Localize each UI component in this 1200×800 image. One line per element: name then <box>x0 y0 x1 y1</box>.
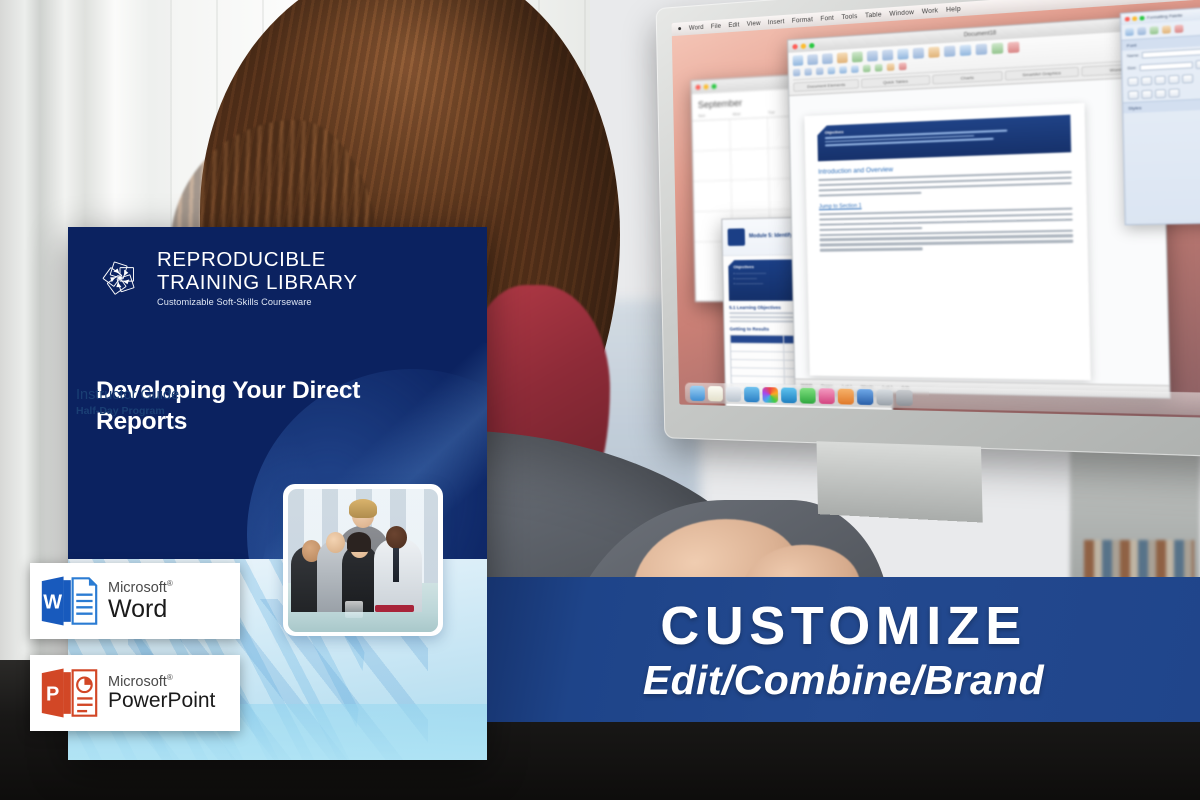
apple-icon[interactable]: ● <box>678 25 683 32</box>
logo-line-2: TRAINING LIBRARY <box>157 272 358 295</box>
zoom-icon[interactable] <box>992 43 1004 55</box>
subscript-button[interactable] <box>1141 90 1152 100</box>
toolbox-icon[interactable] <box>976 44 988 56</box>
maximize-icon[interactable] <box>711 84 716 89</box>
palette-media-icon[interactable] <box>1162 25 1171 33</box>
bullets-icon[interactable] <box>863 65 871 73</box>
palette-list-icon[interactable] <box>1137 27 1146 35</box>
menu-item-format[interactable]: Format <box>792 16 813 24</box>
microsoft-powerpoint-badge[interactable]: P Microsoft® PowerPoint <box>30 655 240 731</box>
thumbnail-caption: Instructor Guide <box>76 387 179 403</box>
tab-document-elements[interactable]: Document Elements <box>793 79 859 92</box>
new-document-icon[interactable] <box>793 55 804 66</box>
monitor-screen: ● Word File Edit View Insert Format Font… <box>672 0 1200 418</box>
redo-icon[interactable] <box>882 49 893 60</box>
mac-desktop: ● Word File Edit View Insert Format Font… <box>672 0 1200 418</box>
menu-item-file[interactable]: File <box>711 23 722 30</box>
calendar-cell[interactable] <box>730 149 769 181</box>
rtl-logo-icon <box>728 228 746 246</box>
palette-review-icon[interactable] <box>1174 25 1183 33</box>
tab-quick-tables[interactable]: Quick Tables <box>861 75 930 88</box>
menu-item-view[interactable]: View <box>747 20 761 27</box>
thumbnail-subcaption: Half-Day Program <box>76 405 179 417</box>
banner-headline: CUSTOMIZE <box>660 599 1027 653</box>
rtl-logo-text: REPRODUCIBLE TRAINING LIBRARY Customizab… <box>157 249 358 307</box>
navigation-icon[interactable] <box>944 46 955 57</box>
bold-button[interactable] <box>1127 77 1138 87</box>
photos-icon[interactable] <box>744 386 760 402</box>
thumbnail-caption-block: Instructor Guide Half-Day Program <box>76 387 179 417</box>
undo-icon[interactable] <box>867 50 878 61</box>
appstore-icon[interactable] <box>857 388 874 404</box>
calendar-cell[interactable] <box>692 120 730 152</box>
close-icon[interactable] <box>696 85 701 90</box>
menu-item-edit[interactable]: Edit <box>728 22 739 29</box>
table-icon[interactable] <box>897 48 908 59</box>
columns-icon[interactable] <box>913 48 924 59</box>
help-icon[interactable] <box>1008 42 1020 54</box>
paste-icon[interactable] <box>852 51 863 62</box>
show-icon[interactable] <box>928 47 939 58</box>
safari-icon[interactable] <box>781 387 797 403</box>
music-icon[interactable] <box>819 388 835 404</box>
word-window[interactable]: Document18 <box>787 15 1171 399</box>
numbering-icon[interactable] <box>875 64 883 72</box>
font-underline-icon[interactable] <box>816 67 824 75</box>
highlight-button[interactable] <box>1168 88 1179 98</box>
align-center-icon[interactable] <box>839 66 847 74</box>
powerpoint-brand-label: Microsoft® <box>108 674 215 689</box>
menu-item-work[interactable]: Work <box>922 8 939 16</box>
microsoft-word-badge[interactable]: W Microsoft® Word <box>30 563 240 639</box>
word-paragraph <box>819 229 1073 251</box>
align-left-icon[interactable] <box>828 67 836 75</box>
day-header-sun: Sun <box>698 111 733 118</box>
person-seated-3-hair <box>347 532 371 552</box>
system-preferences-icon[interactable] <box>762 387 778 403</box>
business-team-photo-icon <box>288 489 438 632</box>
font-italic-icon[interactable] <box>804 68 812 76</box>
notes-icon[interactable] <box>708 385 723 401</box>
minimize-icon[interactable] <box>703 84 708 89</box>
word-document-page[interactable]: Objectives Introduction and Overview Jum… <box>804 103 1090 380</box>
menu-item-font[interactable]: Font <box>820 15 834 22</box>
finder-icon[interactable] <box>690 385 705 400</box>
pinwheel-rosette-logo-icon <box>94 252 146 304</box>
svg-text:P: P <box>46 683 59 705</box>
pages-icon[interactable] <box>726 386 741 402</box>
font-bold-icon[interactable] <box>793 69 800 77</box>
gallery-icon[interactable] <box>960 45 972 56</box>
print-icon[interactable] <box>837 52 848 63</box>
close-icon[interactable] <box>1125 17 1130 22</box>
tab-smartart-graphics[interactable]: SmartArt Graphics <box>1005 67 1079 81</box>
menu-item-insert[interactable]: Insert <box>768 19 785 26</box>
close-icon[interactable] <box>792 43 797 49</box>
necktie <box>393 548 399 582</box>
palette-font-icon[interactable] <box>1125 28 1134 36</box>
calendar-cell[interactable] <box>693 150 731 182</box>
menu-item-tools[interactable]: Tools <box>841 13 857 20</box>
maximize-icon[interactable] <box>1140 16 1145 21</box>
underline-button[interactable] <box>1154 75 1165 85</box>
font-color-button[interactable] <box>1182 74 1194 84</box>
word-badge-text: Microsoft® Word <box>108 580 173 623</box>
maximize-icon[interactable] <box>809 42 814 48</box>
palette-title: Formatting Palette <box>1147 13 1183 20</box>
align-right-icon[interactable] <box>851 65 859 73</box>
calendar-cell[interactable] <box>731 180 770 212</box>
italic-button[interactable] <box>1141 76 1152 86</box>
microsoft-word-icon: W <box>40 574 98 628</box>
day-header-mon: Mon <box>733 110 768 117</box>
calendar-icon[interactable] <box>838 388 854 404</box>
logo-tagline: Customizable Soft-Skills Courseware <box>157 297 358 307</box>
banner-subhead: Edit/Combine/Brand <box>643 660 1044 701</box>
menu-item-table[interactable]: Table <box>865 12 882 19</box>
font-color-icon[interactable] <box>899 62 907 70</box>
text-effects-button[interactable] <box>1155 89 1166 99</box>
microsoft-powerpoint-icon: P <box>40 666 98 720</box>
glass-of-water <box>345 601 363 618</box>
palette-document-icon[interactable] <box>1150 26 1159 34</box>
word-callout-box: Objectives <box>817 115 1071 162</box>
menu-item-help[interactable]: Help <box>946 6 961 13</box>
formatting-palette[interactable]: Formatting Palette Font Name: <box>1120 7 1200 226</box>
tab-charts[interactable]: Charts <box>932 71 1003 85</box>
powerpoint-product-label: PowerPoint <box>108 690 215 712</box>
person-standing-hair <box>349 499 378 518</box>
notebook <box>375 605 414 612</box>
word-paragraph <box>818 171 1072 197</box>
cover-thumbnail <box>283 484 443 636</box>
word-product-label: Word <box>108 596 173 622</box>
word-brand-label: Microsoft® <box>108 580 173 595</box>
menu-item-window[interactable]: Window <box>889 9 914 17</box>
computer-monitor: ● Word File Edit View Insert Format Font… <box>656 0 1200 458</box>
strikethrough-button[interactable] <box>1168 75 1179 85</box>
word-document-title: Document18 <box>964 30 996 39</box>
logo-line-1: REPRODUCIBLE <box>157 249 358 272</box>
palette-size-label: Size: <box>1127 66 1137 71</box>
messages-icon[interactable] <box>800 387 816 403</box>
customize-banner: CUSTOMIZE Edit/Combine/Brand <box>487 577 1200 722</box>
menu-item-word[interactable]: Word <box>689 24 704 31</box>
svg-text:W: W <box>43 591 62 613</box>
launchpad-icon[interactable] <box>876 389 893 405</box>
powerpoint-badge-text: Microsoft® PowerPoint <box>108 674 215 712</box>
font-size-input[interactable] <box>1139 61 1193 71</box>
person-seated-4-head <box>386 526 407 549</box>
word-paragraph <box>819 207 1073 230</box>
open-icon[interactable] <box>807 54 818 65</box>
palette-name-label: Name: <box>1127 53 1140 58</box>
calendar-cell[interactable] <box>694 181 732 212</box>
font-name-input[interactable] <box>1142 48 1200 58</box>
minimize-icon[interactable] <box>801 43 806 49</box>
rtl-logo: REPRODUCIBLE TRAINING LIBRARY Customizab… <box>94 249 358 307</box>
promo-canvas: ● Word File Edit View Insert Format Font… <box>0 0 1200 800</box>
trash-icon[interactable] <box>896 389 913 405</box>
minimize-icon[interactable] <box>1132 16 1137 21</box>
monitor-stand <box>817 441 983 522</box>
superscript-button[interactable] <box>1128 90 1139 99</box>
save-icon[interactable] <box>822 53 833 64</box>
highlight-icon[interactable] <box>887 63 895 71</box>
calendar-cell[interactable] <box>730 118 769 150</box>
font-size-stepper[interactable] <box>1195 60 1200 70</box>
